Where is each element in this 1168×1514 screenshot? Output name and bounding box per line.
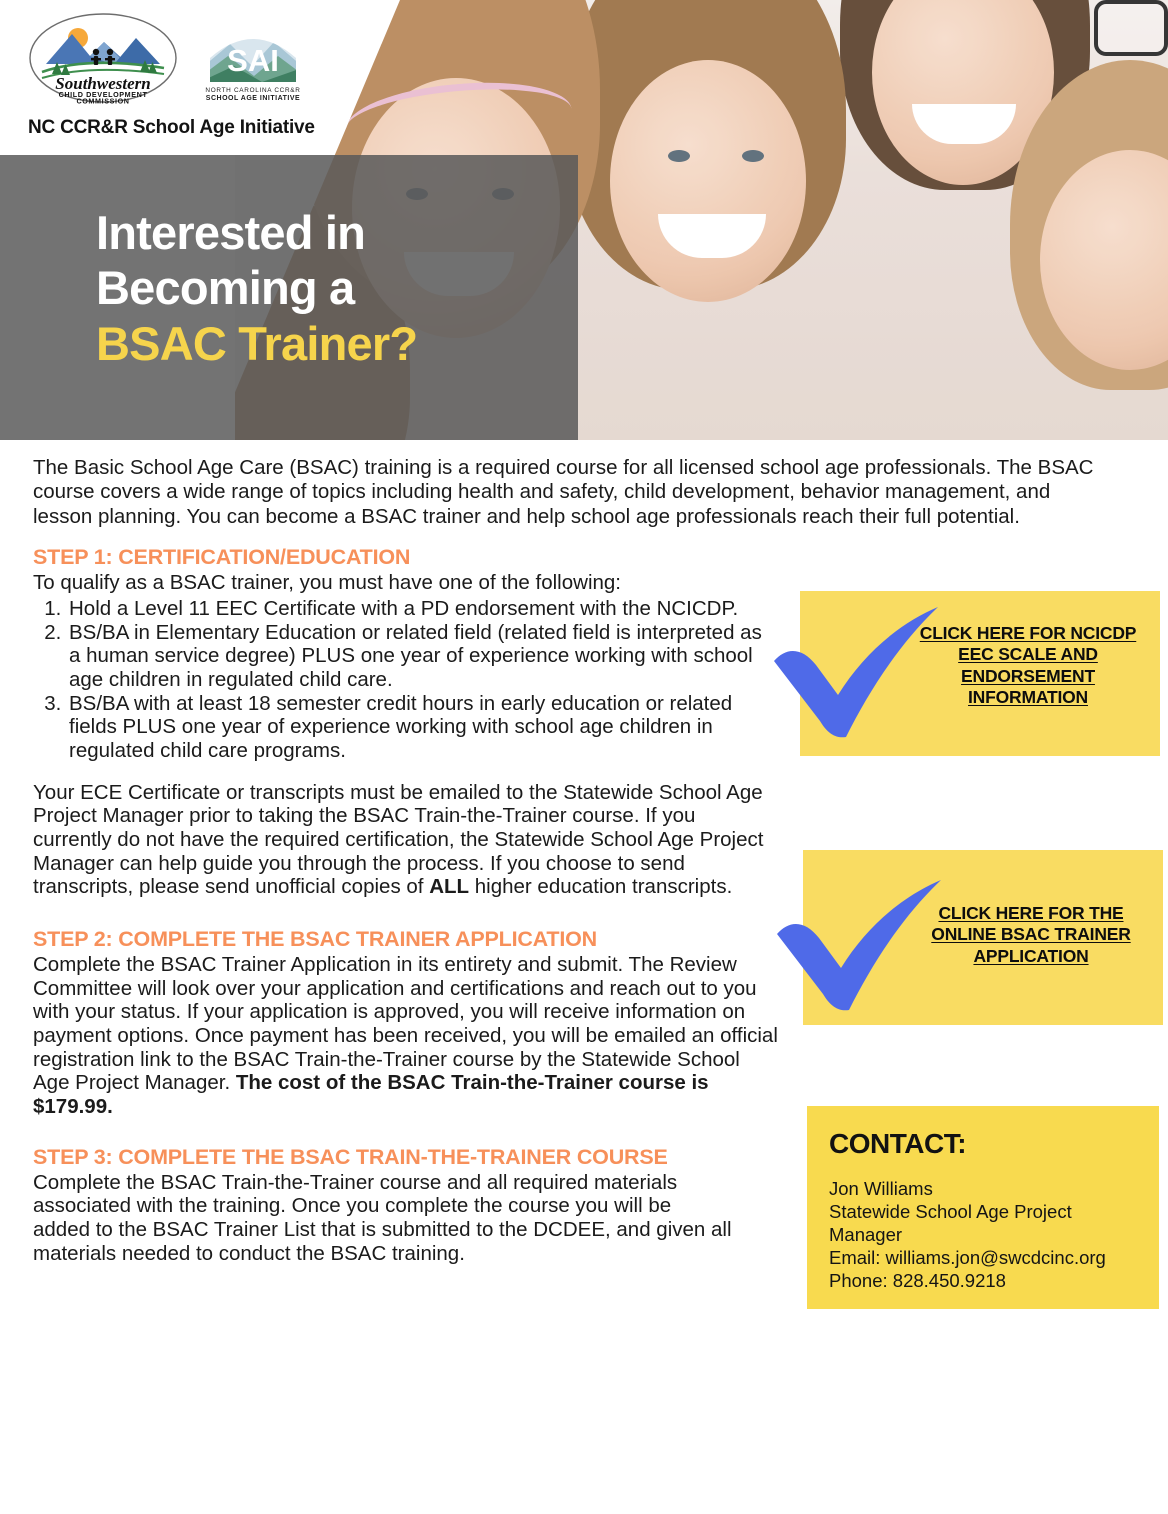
step-3-paragraph: Complete the BSAC Train-the-Trainer cour… xyxy=(33,1171,733,1266)
org-title: NC CCR&R School Age Initiative xyxy=(28,117,315,139)
step-1-closing-part2: higher education transcripts. xyxy=(469,875,732,898)
contact-email[interactable]: Email: williams.jon@swcdcinc.org xyxy=(829,1247,1139,1270)
list-item: Hold a Level 11 EEC Certificate with a P… xyxy=(67,597,778,621)
header: Southwestern CHILD DEVELOPMENT COMMISSIO… xyxy=(0,0,1168,155)
list-item: BS/BA with at least 18 semester credit h… xyxy=(67,692,778,763)
step-2-paragraph: Complete the BSAC Trainer Application in… xyxy=(33,953,778,1119)
swcdc-logo-svg: Southwestern CHILD DEVELOPMENT COMMISSIO… xyxy=(28,12,178,104)
callout-1-label: CLICK HERE FOR NCICDP EEC SCALE AND ENDO… xyxy=(910,623,1146,708)
contact-box: CONTACT: Jon Williams Statewide School A… xyxy=(807,1106,1159,1309)
hero-title-line-2: Becoming a xyxy=(96,260,417,315)
step-1-requirements-list: Hold a Level 11 EEC Certificate with a P… xyxy=(67,597,778,763)
step-1-closing-emphasis: ALL xyxy=(429,875,469,898)
online-bsac-trainer-application-link[interactable]: CLICK HERE FOR THE ONLINE BSAC TRAINER A… xyxy=(803,850,1163,1025)
contact-phone[interactable]: Phone: 828.450.9218 xyxy=(829,1270,1139,1293)
callout-2-label: CLICK HERE FOR THE ONLINE BSAC TRAINER A… xyxy=(913,903,1149,967)
southwestern-child-development-commission-logo: Southwestern CHILD DEVELOPMENT COMMISSIO… xyxy=(28,12,178,104)
sai-logo: SAI NORTH CAROLINA CCR&R SCHOOL AGE INIT… xyxy=(204,26,302,104)
ncicdp-eec-scale-link[interactable]: CLICK HERE FOR NCICDP EEC SCALE AND ENDO… xyxy=(800,591,1160,756)
svg-text:NORTH CAROLINA CCR&R: NORTH CAROLINA CCR&R xyxy=(205,87,300,94)
contact-role-line-1: Statewide School Age Project xyxy=(829,1201,1139,1224)
list-item: BS/BA in Elementary Education or related… xyxy=(67,621,778,692)
step-1-heading: STEP 1: CERTIFICATION/EDUCATION xyxy=(33,545,778,570)
sai-logo-svg: SAI NORTH CAROLINA CCR&R SCHOOL AGE INIT… xyxy=(204,26,302,104)
hero-title: Interested in Becoming a BSAC Trainer? xyxy=(96,205,417,371)
step-2-heading: STEP 2: COMPLETE THE BSAC TRAINER APPLIC… xyxy=(33,927,778,952)
body-content: The Basic School Age Care (BSAC) trainin… xyxy=(33,456,778,1265)
hero-title-line-1: Interested in xyxy=(96,205,417,260)
spacer xyxy=(33,763,778,781)
step-3-heading: STEP 3: COMPLETE THE BSAC TRAIN-THE-TRAI… xyxy=(33,1145,813,1170)
step-1-lead: To qualify as a BSAC trainer, you must h… xyxy=(33,571,633,595)
contact-title: CONTACT: xyxy=(829,1128,1139,1160)
contact-role-line-2: Manager xyxy=(829,1224,1139,1247)
sai-wordmark: SAI xyxy=(227,43,279,78)
svg-text:SCHOOL AGE INITIATIVE: SCHOOL AGE INITIATIVE xyxy=(206,95,300,102)
step-1-closing-paragraph: Your ECE Certificate or transcripts must… xyxy=(33,781,778,899)
svg-text:COMMISSION: COMMISSION xyxy=(76,97,129,105)
flyer-page: Interested in Becoming a BSAC Trainer? xyxy=(0,0,1168,1514)
logo-group: Southwestern CHILD DEVELOPMENT COMMISSIO… xyxy=(28,12,302,104)
intro-paragraph: The Basic School Age Care (BSAC) trainin… xyxy=(33,456,1113,529)
contact-name: Jon Williams xyxy=(829,1178,1139,1201)
hero-title-line-3: BSAC Trainer? xyxy=(96,316,417,371)
